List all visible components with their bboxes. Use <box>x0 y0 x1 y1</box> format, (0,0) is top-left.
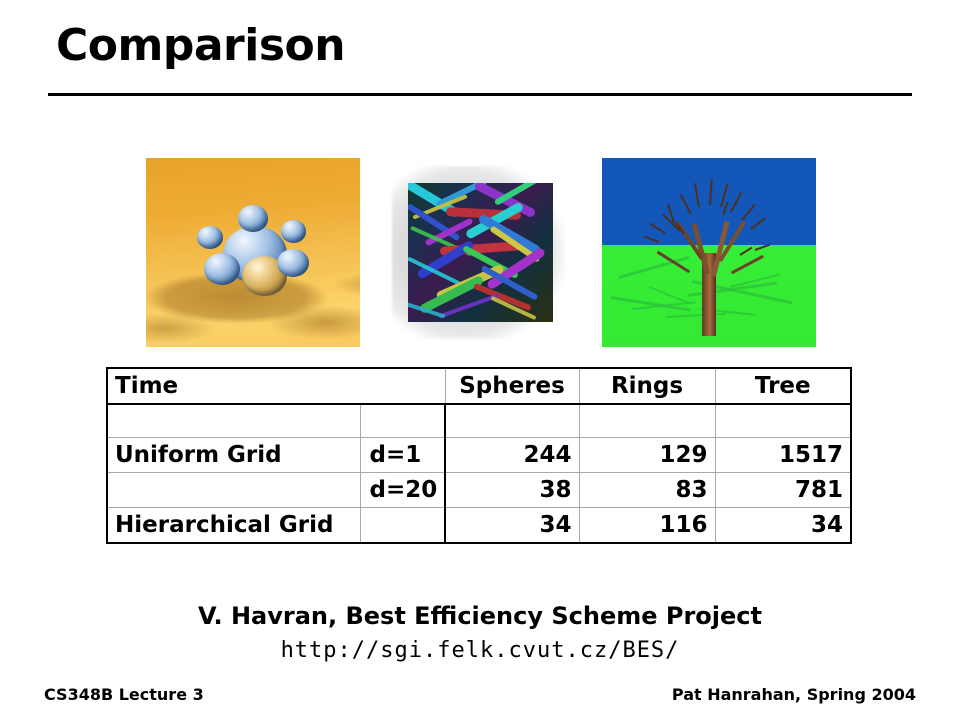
table-row: Uniform Grid d=1 244 129 1517 <box>107 438 851 473</box>
column-header-time: Time <box>107 368 445 404</box>
column-header-tree: Tree <box>715 368 851 404</box>
cell-sub: d=1 <box>360 438 445 473</box>
sphere-left <box>197 226 223 249</box>
tree-scene-image: Tree: bare procedural tree with blue sky… <box>602 158 816 347</box>
cell-tree: 34 <box>715 508 851 544</box>
footer-left: CS348B Lecture 3 <box>44 685 204 704</box>
footer-right: Pat Hanrahan, Spring 2004 <box>672 685 916 704</box>
cell-label <box>107 473 360 508</box>
cell-rings: 116 <box>579 508 715 544</box>
cell-rings <box>579 404 715 438</box>
cell-spheres: 244 <box>445 438 579 473</box>
cell-tree: 1517 <box>715 438 851 473</box>
cell-tree <box>715 404 851 438</box>
cell-rings: 129 <box>579 438 715 473</box>
table-row <box>107 404 851 438</box>
credit-url[interactable]: http://sgi.felk.cvut.cz/BES/ <box>0 638 960 663</box>
results-table: Time Spheres Rings Tree Uniform Grid d=1… <box>106 367 852 544</box>
scene-image-strip: Sphereflake: recursive blue glossy spher… <box>146 158 816 347</box>
slide-canvas: Comparison <box>0 0 960 720</box>
table-header-row: Time Spheres Rings Tree <box>107 368 851 404</box>
cell-tree: 781 <box>715 473 851 508</box>
table-row: d=20 38 83 781 <box>107 473 851 508</box>
cell-sub <box>360 508 445 544</box>
cell-label: Hierarchical Grid <box>107 508 360 544</box>
column-header-rings: Rings <box>579 368 715 404</box>
credit-line: V. Havran, Best Efficiency Scheme Projec… <box>0 602 960 630</box>
page-title: Comparison <box>56 22 345 70</box>
sphere-lower-left <box>204 253 240 285</box>
spheres-scene-image: Sphereflake: recursive blue glossy spher… <box>146 158 360 347</box>
column-header-spheres: Spheres <box>445 368 579 404</box>
sphere-lower-right <box>277 249 309 277</box>
rings-lattice <box>408 183 552 323</box>
cell-sub <box>360 404 445 438</box>
title-divider <box>48 93 912 96</box>
cell-spheres: 34 <box>445 508 579 544</box>
rings-scene-image: Rings: dense lattice of interlocking mul… <box>388 158 573 347</box>
table-row: Hierarchical Grid 34 116 34 <box>107 508 851 544</box>
sphere-right <box>281 220 307 243</box>
cell-label <box>107 404 360 438</box>
cell-spheres <box>445 404 579 438</box>
cell-rings: 83 <box>579 473 715 508</box>
cell-sub: d=20 <box>360 473 445 508</box>
sphere-top <box>238 205 268 231</box>
cell-label: Uniform Grid <box>107 438 360 473</box>
cell-spheres: 38 <box>445 473 579 508</box>
